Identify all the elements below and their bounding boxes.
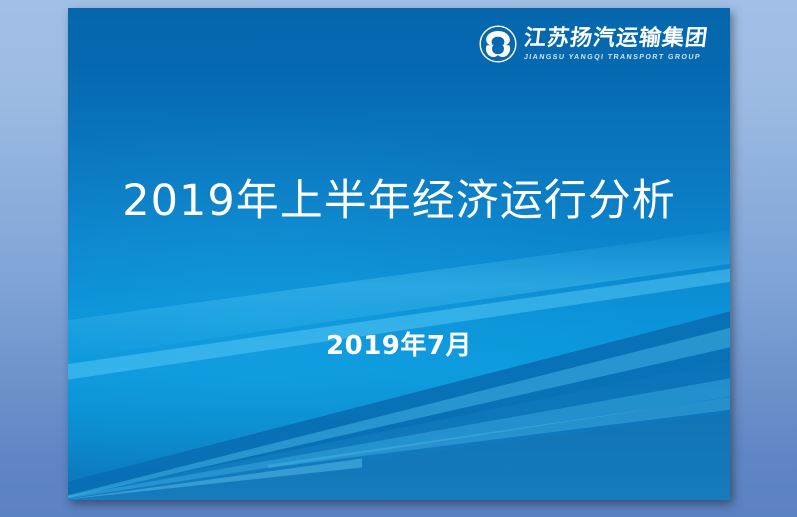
presentation-viewer: 江苏扬汽运输集团 JIANGSU YANGQI TRANSPORT GROUP …: [0, 0, 797, 517]
logo-chinese-name: 江苏扬汽运输集团: [523, 28, 710, 50]
yangqi-circular-emblem-icon: [479, 25, 517, 63]
company-logo: 江苏扬汽运输集团 JIANGSU YANGQI TRANSPORT GROUP: [479, 25, 708, 63]
logo-english-name: JIANGSU YANGQI TRANSPORT GROUP: [524, 53, 702, 60]
slide-canvas[interactable]: 江苏扬汽运输集团 JIANGSU YANGQI TRANSPORT GROUP …: [68, 8, 730, 500]
slide-subtitle: 2019年7月: [68, 325, 730, 362]
slide-title: 2019年上半年经济运行分析: [68, 166, 730, 228]
logo-wordmark: 江苏扬汽运输集团 JIANGSU YANGQI TRANSPORT GROUP: [524, 28, 708, 60]
